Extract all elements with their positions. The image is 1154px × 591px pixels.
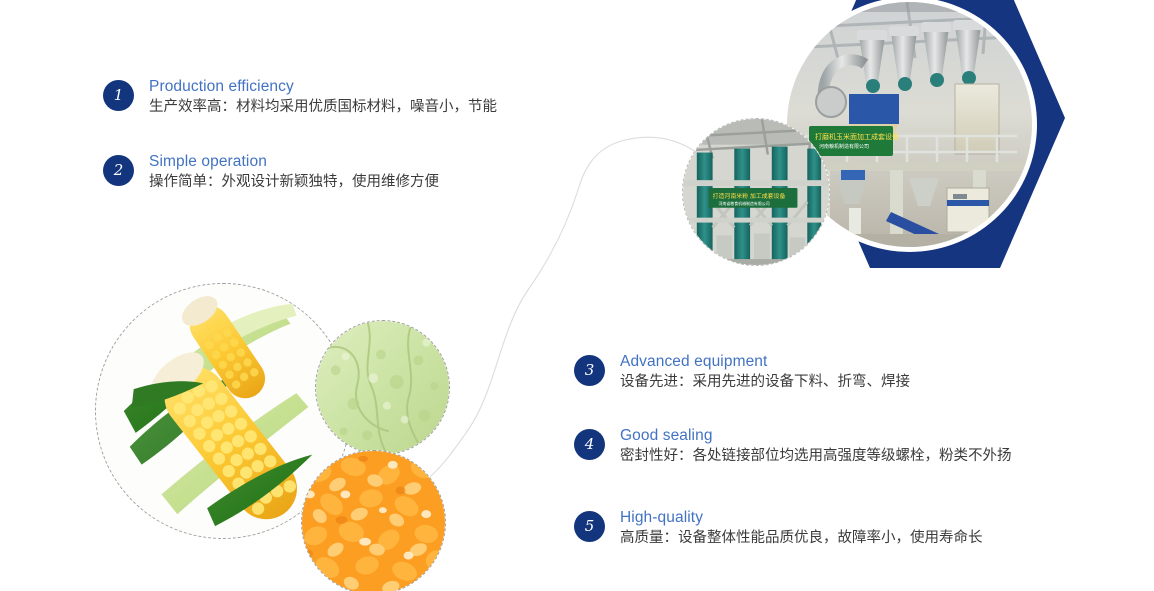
feature-text-3: Advanced equipment 设备先进：采用先进的设备下料、折弯、焊接 bbox=[620, 352, 910, 393]
feature-text-5: High-quality 高质量：设备整体性能品质优良，故障率小，使用寿命长 bbox=[620, 508, 983, 549]
feature-item-1[interactable]: 1 Production efficiency 生产效率高：材料均采用优质国标材… bbox=[103, 77, 497, 118]
feature-badge-5: 5 bbox=[574, 511, 605, 542]
feature-infographic: 打磨机玉米面加工成套设备 河南粮机制造有限公司 bbox=[0, 0, 1154, 591]
feature-title-1: Production efficiency bbox=[149, 77, 497, 96]
feature-badge-1: 1 bbox=[103, 80, 134, 111]
feature-desc-2: 操作简单：外观设计新颖独特，使用维修方便 bbox=[149, 172, 439, 193]
feature-item-5[interactable]: 5 High-quality 高质量：设备整体性能品质优良，故障率小，使用寿命长 bbox=[574, 508, 983, 549]
feature-item-3[interactable]: 3 Advanced equipment 设备先进：采用先进的设备下料、折弯、焊… bbox=[574, 352, 910, 393]
feature-title-4: Good sealing bbox=[620, 426, 1012, 445]
top-right-media-group: 打磨机玉米面加工成套设备 河南粮机制造有限公司 bbox=[660, 0, 1154, 290]
green-mill-equipment-photo: 打造河南米粉 加工成套设备 河南省粮食机械制造有限公司 bbox=[682, 118, 830, 266]
feature-text-4: Good sealing 密封性好：各处链接部位均选用高强度等级螺栓，粉类不外扬 bbox=[620, 426, 1012, 467]
feature-badge-3: 3 bbox=[574, 355, 605, 386]
green-corn-paste-photo bbox=[315, 320, 450, 455]
feature-item-4[interactable]: 4 Good sealing 密封性好：各处链接部位均选用高强度等级螺栓，粉类不… bbox=[574, 426, 1012, 467]
bottom-left-media-group bbox=[85, 275, 465, 591]
feature-desc-4: 密封性好：各处链接部位均选用高强度等级螺栓，粉类不外扬 bbox=[620, 446, 1012, 467]
feature-desc-5: 高质量：设备整体性能品质优良，故障率小，使用寿命长 bbox=[620, 528, 983, 549]
feature-title-2: Simple operation bbox=[149, 152, 439, 171]
feature-item-2[interactable]: 2 Simple operation 操作简单：外观设计新颖独特，使用维修方便 bbox=[103, 152, 439, 193]
corn-kernels-photo bbox=[301, 450, 446, 591]
feature-desc-1: 生产效率高：材料均采用优质国标材料，噪音小，节能 bbox=[149, 97, 497, 118]
svg-text:河南省粮食机械制造有限公司: 河南省粮食机械制造有限公司 bbox=[719, 201, 770, 206]
feature-desc-3: 设备先进：采用先进的设备下料、折弯、焊接 bbox=[620, 372, 910, 393]
feature-badge-2: 2 bbox=[103, 155, 134, 186]
feature-title-3: Advanced equipment bbox=[620, 352, 910, 371]
feature-badge-4: 4 bbox=[574, 429, 605, 460]
feature-title-5: High-quality bbox=[620, 508, 983, 527]
feature-text-2: Simple operation 操作简单：外观设计新颖独特，使用维修方便 bbox=[149, 152, 439, 193]
feature-text-1: Production efficiency 生产效率高：材料均采用优质国标材料，… bbox=[149, 77, 497, 118]
svg-text:打造河南米粉 加工成套设备: 打造河南米粉 加工成套设备 bbox=[713, 192, 786, 200]
